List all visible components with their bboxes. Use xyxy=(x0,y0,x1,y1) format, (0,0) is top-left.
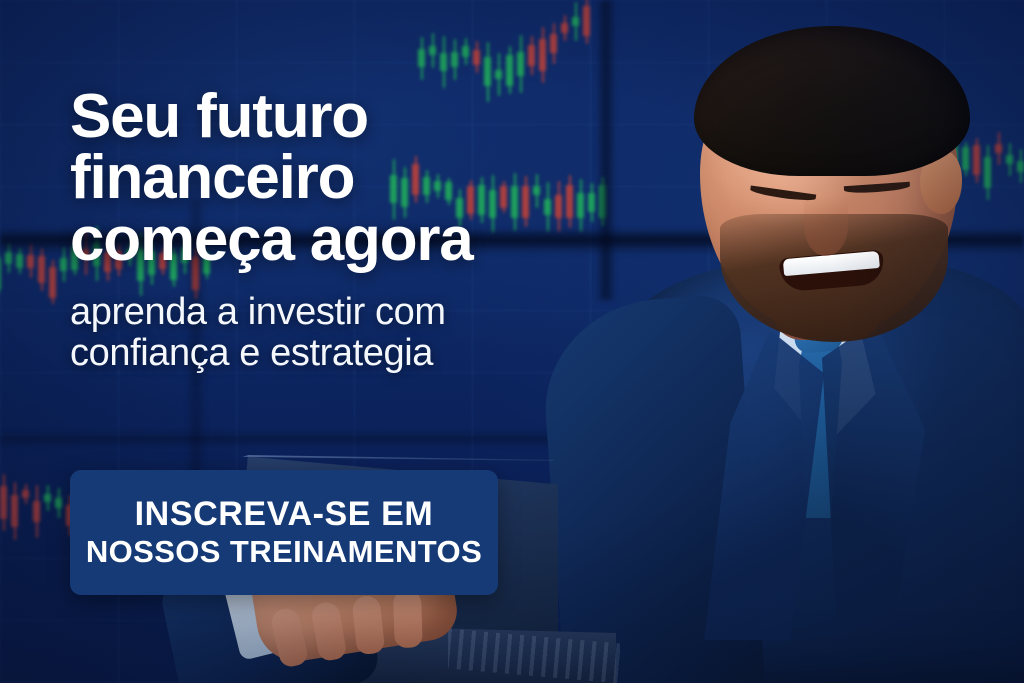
finger xyxy=(393,589,423,648)
candle-wick xyxy=(41,248,43,291)
candle-up xyxy=(440,53,447,71)
promo-banner: Seu futuro financeiro começa agora apren… xyxy=(0,0,1024,683)
headline-line-3: começa agora xyxy=(70,209,630,270)
banner-copy: Seu futuro financeiro começa agora apren… xyxy=(70,86,630,374)
candle-up xyxy=(418,49,425,67)
finger xyxy=(310,600,348,662)
candle-down xyxy=(0,486,7,519)
candle-up xyxy=(44,494,51,502)
headline-line-1: Seu futuro xyxy=(70,86,630,147)
headline-line-2: financeiro xyxy=(70,147,630,208)
candle-wick xyxy=(465,38,467,65)
nose xyxy=(804,196,848,256)
candle-down xyxy=(38,256,45,283)
subheadline: aprenda a investir com confiança e estra… xyxy=(70,292,630,374)
candle-down xyxy=(33,501,40,522)
candle-wick xyxy=(454,39,456,80)
candle-up xyxy=(462,46,469,57)
candle-down xyxy=(473,50,480,65)
candle-wick xyxy=(58,488,60,518)
signup-cta-button[interactable]: INSCREVA-SE EM NOSSOS TREINAMENTOS xyxy=(70,470,498,595)
candle-up xyxy=(451,52,458,67)
subheadline-line-1: aprenda a investir com xyxy=(70,292,630,333)
hair xyxy=(694,26,970,176)
candle-down xyxy=(27,255,34,268)
cta-label-line-2: NOSSOS TREINAMENTOS xyxy=(86,535,482,569)
subheadline-line-2: confiança e estrategia xyxy=(70,333,630,374)
candle-wick xyxy=(52,260,54,304)
candle-up xyxy=(484,57,491,86)
candle-up xyxy=(495,70,502,79)
candle-wick xyxy=(3,474,5,531)
candle-up xyxy=(0,258,1,290)
candle-wick xyxy=(443,36,445,88)
candle-up xyxy=(429,46,436,55)
candle-up xyxy=(16,254,23,268)
candle-up xyxy=(55,498,62,508)
candle-down xyxy=(11,495,18,526)
candle-wick xyxy=(25,484,27,504)
candle-down xyxy=(49,267,56,298)
headline: Seu futuro financeiro começa agora xyxy=(70,86,630,270)
candle-wick xyxy=(432,33,434,69)
candle-wick xyxy=(47,485,49,511)
candle-wick xyxy=(14,482,16,540)
candle-wick xyxy=(476,41,478,73)
candle-down xyxy=(22,490,29,498)
finger xyxy=(351,595,385,656)
candle-wick xyxy=(36,485,38,538)
candle-up xyxy=(60,258,67,271)
candle-wick xyxy=(421,37,423,80)
cta-label-line-1: INSCREVA-SE EM xyxy=(135,496,434,533)
